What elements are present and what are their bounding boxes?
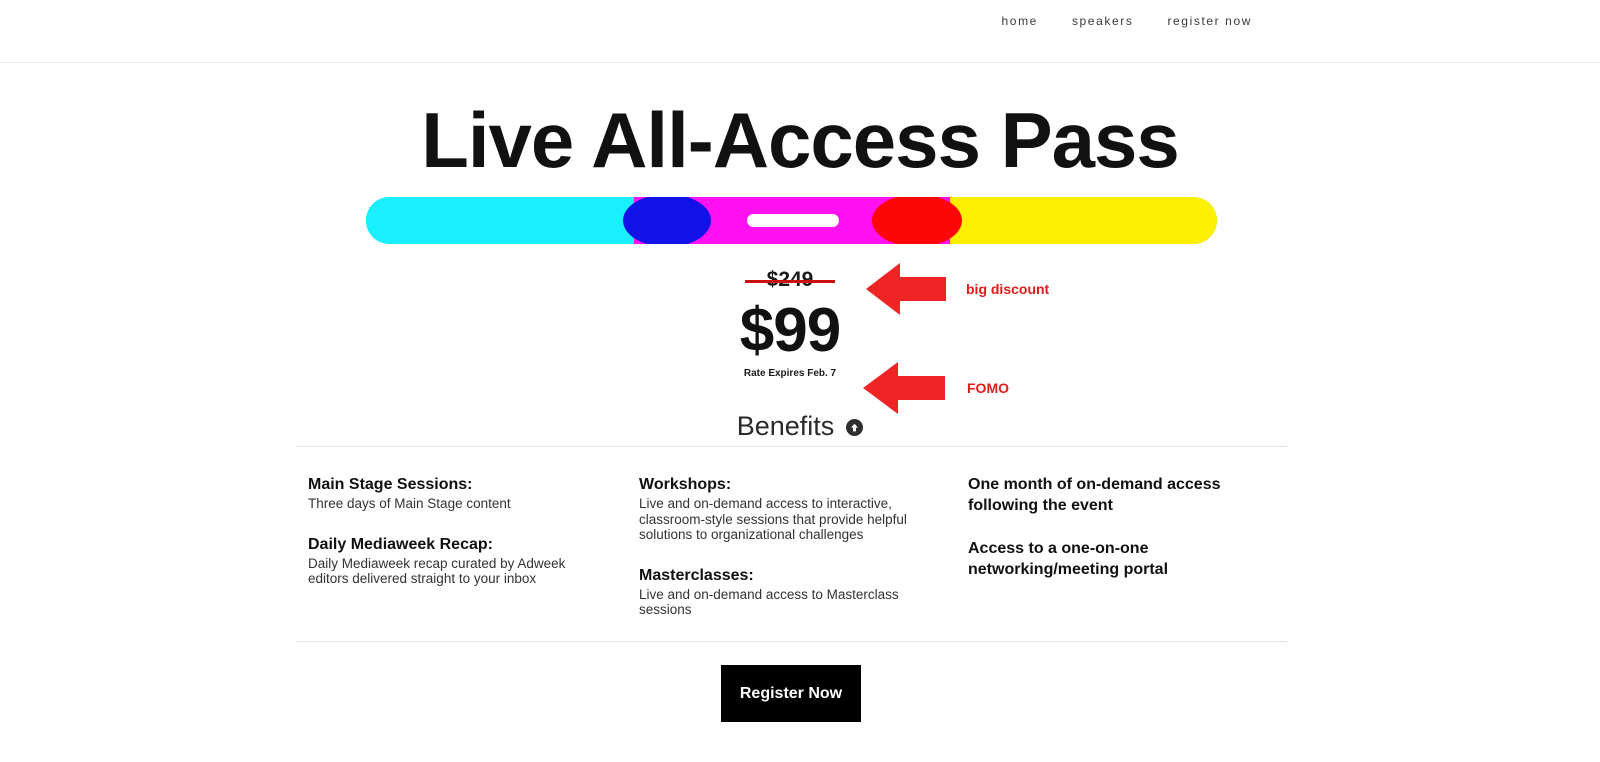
benefit-item: Main Stage Sessions: Three days of Main … [308,474,602,512]
original-price-wrapper: $249 [757,268,824,292]
benefit-item: Access to a one-on-one networking/meetin… [968,538,1263,580]
benefit-item: Masterclasses: Live and on-demand access… [639,565,932,618]
benefit-title: Access to a one-on-one networking/meetin… [968,538,1263,580]
color-bar-ellipse-blue [623,197,711,244]
color-bar-segment-yellow [950,197,1217,244]
annotation-label: big discount [966,281,1049,297]
strikethrough-line [745,280,836,283]
benefit-item: One month of on-demand access following … [968,474,1263,516]
left-arrow-icon [866,262,946,316]
main-nav: home speakers register now [1002,14,1252,28]
divider-top [296,446,1287,447]
nav-link-register-now[interactable]: register now [1167,14,1252,28]
benefit-description: Daily Mediaweek recap curated by Adweek … [308,556,602,587]
benefit-description: Live and on-demand access to interactive… [639,496,932,543]
annotation-label: FOMO [967,380,1009,396]
benefit-title: One month of on-demand access following … [968,474,1263,516]
benefit-item: Daily Mediaweek Recap: Daily Mediaweek r… [308,534,602,587]
site-header: home speakers register now [0,0,1600,63]
nav-link-home[interactable]: home [1002,14,1038,28]
annotation-big-discount: big discount [866,262,946,316]
benefit-title: Daily Mediaweek Recap: [308,534,602,555]
benefit-description: Three days of Main Stage content [308,496,602,512]
benefit-title: Main Stage Sessions: [308,474,602,495]
benefit-item: Workshops: Live and on-demand access to … [639,474,932,543]
benefit-column-1: Main Stage Sessions: Three days of Main … [296,474,626,640]
divider-bottom [296,641,1287,642]
pricing-page: home speakers register now Live All-Acce… [0,0,1600,762]
nav-link-speakers[interactable]: speakers [1072,14,1134,28]
benefit-column-2: Workshops: Live and on-demand access to … [626,474,956,640]
benefit-title: Workshops: [639,474,932,495]
benefits-columns: Main Stage Sessions: Three days of Main … [296,474,1287,640]
page-title: Live All-Access Pass [0,99,1600,181]
benefit-description: Live and on-demand access to Masterclass… [639,587,932,618]
benefit-column-3: One month of on-demand access following … [956,474,1287,640]
register-now-button[interactable]: Register Now [721,665,861,722]
arrow-up-glyph [850,423,859,432]
annotation-fomo: FOMO [863,361,945,415]
color-bar-segment-cyan [366,197,634,244]
color-bar-ellipse-red [872,197,962,244]
left-arrow-icon [863,361,945,415]
decorative-color-bar [366,197,1217,244]
benefit-title: Masterclasses: [639,565,932,586]
benefits-heading: Benefits [0,410,1600,442]
benefits-title: Benefits [737,410,835,442]
circle-arrow-up-icon[interactable] [846,419,863,436]
color-bar-dash [747,214,839,227]
